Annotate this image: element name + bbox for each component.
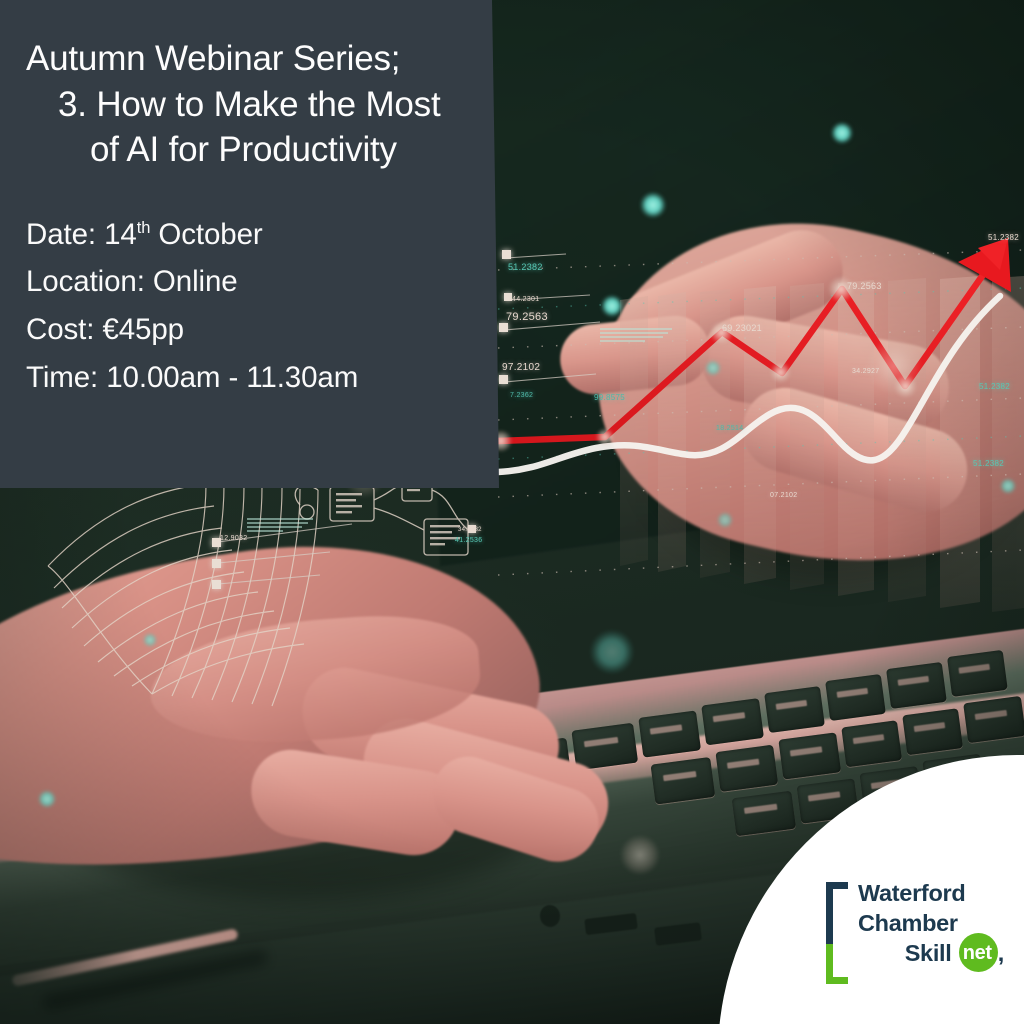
logo-text-block: Waterford Chamber Skill net , (858, 878, 1008, 968)
detail-date-month: October (150, 218, 262, 251)
detail-location: Location: Online (26, 258, 496, 306)
bracket-bottom-segment (826, 944, 848, 984)
event-details: Date: 14th October Location: Online Cost… (26, 211, 496, 402)
skillnet-wordmark: Skill net , (905, 938, 1004, 968)
title-line-3: of AI for Productivity (26, 127, 496, 173)
detail-time: Time: 10.00am - 11.30am (26, 354, 496, 402)
logo-waterford-chamber-skillnet: Waterford Chamber Skill net , (826, 878, 1006, 990)
logo-line-waterford: Waterford (858, 878, 1008, 908)
info-panel: Autumn Webinar Series; 3. How to Make th… (0, 0, 500, 488)
skillnet-comma: , (998, 940, 1004, 966)
page-title: Autumn Webinar Series; 3. How to Make th… (26, 36, 496, 173)
info-panel-content: Autumn Webinar Series; 3. How to Make th… (26, 36, 496, 402)
skillnet-net-text: net (963, 941, 992, 967)
detail-cost: Cost: €45pp (26, 306, 496, 354)
bracket-icon (826, 882, 848, 984)
title-line-2: 3. How to Make the Most (26, 82, 496, 128)
detail-date-ordinal: th (137, 218, 151, 237)
skillnet-skill-text: Skill (905, 940, 952, 966)
bracket-top-segment (826, 882, 848, 944)
poster-canvas: 51.238244.230179.256397.210299.85757.236… (0, 0, 1024, 1024)
detail-date-text: Date: 14 (26, 218, 137, 251)
detail-date: Date: 14th October (26, 211, 496, 259)
title-line-1: Autumn Webinar Series; (26, 36, 496, 82)
logo-line-skillnet: Skill net , (858, 938, 1008, 968)
